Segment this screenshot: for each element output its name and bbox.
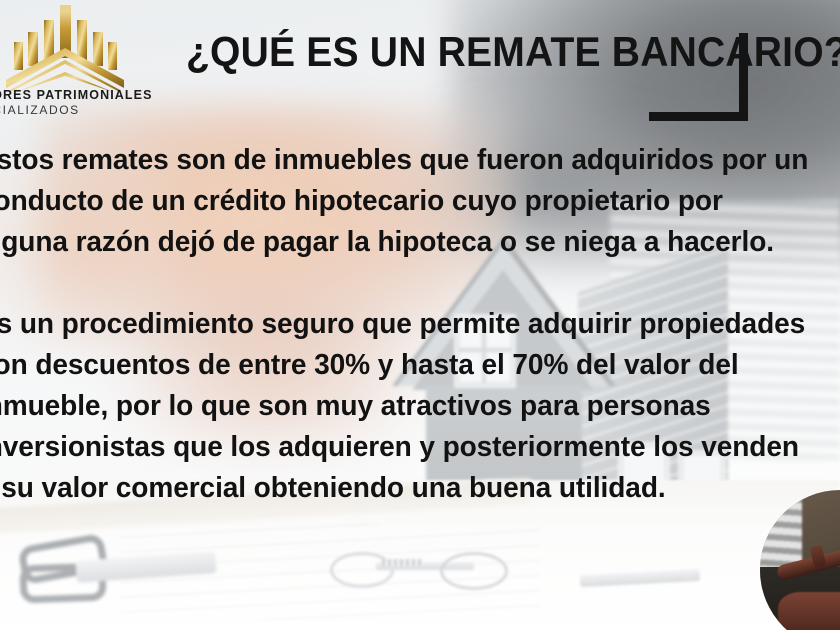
paragraph-2-line-3: inmueble, por lo que son muy atractivos … (0, 386, 840, 427)
page-title: ¿QUÉ ES UN REMATE BANCARIO? (186, 28, 707, 76)
body-copy-block: Estos remates son de inmuebles que fuero… (0, 140, 840, 509)
logo-company-name: GESTORES PATRIMONIALES (0, 88, 144, 103)
scissors-object (20, 534, 220, 604)
gavel-photo-circle (760, 490, 840, 630)
gavel-photo-background (760, 490, 840, 630)
paragraph-1-line-2: conducto de un crédito hipotecario cuyo … (0, 181, 840, 222)
gold-chevron-building-logo-icon (0, 2, 130, 92)
logo-company-tagline: ESPECIALIZADOS (0, 103, 144, 118)
infographic-slide: GESTORES PATRIMONIALES ESPECIALIZADOS ¿Q… (0, 0, 840, 630)
company-logo: GESTORES PATRIMONIALES ESPECIALIZADOS (0, 0, 130, 122)
gavel-sound-block (778, 592, 840, 630)
logo-wordmark: GESTORES PATRIMONIALES ESPECIALIZADOS (0, 88, 144, 118)
key-ring-right (440, 552, 508, 590)
paragraph-2-line-4: inversionistas que los adquieren y poste… (0, 427, 840, 468)
title-block: ¿QUÉ ES UN REMATE BANCARIO? (186, 28, 786, 128)
house-keys-object (330, 548, 520, 588)
paragraph-2-line-5: a su valor comercial obteniendo una buen… (0, 468, 840, 509)
title-bracket-vertical (739, 33, 748, 121)
paragraph-2-line-2: con descuentos de entre 30% y hasta el 7… (0, 345, 840, 386)
key-ring-left (330, 552, 394, 588)
paragraph-1-line-3: alguna razón dejó de pagar la hipoteca o… (0, 222, 840, 263)
paragraph-2-line-1: Es un procedimiento seguro que permite a… (0, 304, 840, 345)
title-bracket-horizontal (649, 112, 748, 121)
paragraph-1-line-1: Estos remates son de inmuebles que fuero… (0, 140, 840, 181)
key-teeth (382, 559, 422, 566)
